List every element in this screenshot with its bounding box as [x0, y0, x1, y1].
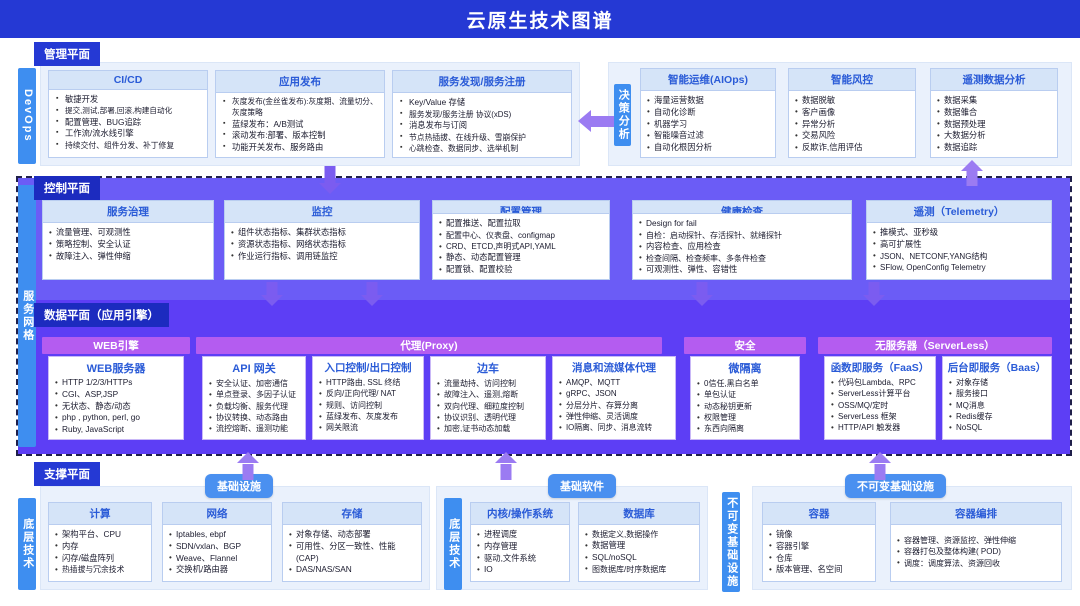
- card-api-gateway: API 网关 安全认证、加密通信 单点登录、多因子认证 负载均衡、服务代理 协议…: [202, 356, 306, 440]
- card-items: 灰度发布(金丝雀发布):灰度期、流量切分、灰度策略 蓝绿发布：A/B测试 滚动发…: [221, 97, 379, 154]
- card-database: 数据库 数据定义,数据操作 数据管理 SQL/noSQL 图数据库/时序数据库: [578, 502, 700, 582]
- card-config-management: 配置管理 配置推送、配置拉取 配置中心、仪表盘、configmap CRD、ET…: [432, 200, 610, 280]
- card-micro-segmentation: 微隔离 0信任,黑白名单 单包认证 动态秘钥更新 权限管理 东西向隔离: [690, 356, 800, 440]
- card-web-server: WEB服务器 HTTP 1/2/3/HTTPs CGI、ASP,JSP 无状态、…: [48, 356, 184, 440]
- card-items: 容器管理、资源监控、弹性伸缩 容器打包及整体构建( POD) 调度：调度算法、资…: [896, 535, 1056, 569]
- arrow-up-control-to-telemetry: [960, 160, 984, 186]
- card-aiops: 智能运维(AIOps) 海量运营数据 自动化诊断 机器学习 智能噪音过滤 自动化…: [640, 68, 776, 158]
- arrow-left-decision-to-management: [578, 110, 614, 132]
- card-service-governance: 服务治理 流量管理、可观测性 策略控制、安全认证 故障注入、弹性伸缩: [42, 200, 214, 280]
- card-items: 数据定义,数据操作 数据管理 SQL/noSQL 图数据库/时序数据库: [584, 529, 694, 575]
- rail-immutable-infra: 不可变基础设施: [722, 492, 740, 592]
- card-network: 网络 Iptables, ebpf SDN/vxlan、BGP Weave、Fl…: [162, 502, 272, 582]
- arrow-down-control-to-data-4: [862, 282, 886, 306]
- card-items: 安全认证、加密通信 单点登录、多因子认证 负载均衡、服务代理 协议转换、动态路由…: [208, 378, 300, 435]
- card-items: 配置推送、配置拉取 配置中心、仪表盘、configmap CRD、ETCD,声明…: [438, 218, 604, 276]
- card-container-orchestration: 容器编排 容器管理、资源监控、弹性伸缩 容器打包及整体构建( POD) 调度：调…: [890, 502, 1062, 582]
- card-telemetry: 遥测（Telemetry） 推模式、亚秒级 高可扩展性 JSON、NETCONF…: [866, 200, 1052, 280]
- rail-devops: DevOps: [18, 68, 36, 164]
- group-bar-web-engine: WEB引擎: [42, 337, 190, 354]
- card-items: Design for fail 自检：启动探针、存活探针、就绪探针 内容检查、应…: [638, 218, 846, 276]
- card-items: 镜像 容器引擎 仓库 版本管理、名空间: [768, 529, 870, 576]
- card-baas: 后台即服务（Baas） 对象存储 服务接口 MQ消息 Redis缓存 NoSQL: [942, 356, 1052, 440]
- pill-immutable-infrastructure: 不可变基础设施: [845, 474, 946, 498]
- rail-decision-analysis: 决策分析: [614, 84, 631, 146]
- card-items: 对象存储 服务接口 MQ消息 Redis缓存 NoSQL: [948, 377, 1046, 434]
- arrow-down-control-to-data-2: [360, 282, 384, 306]
- plane-label-data: 数据平面（应用引擎）: [34, 303, 169, 327]
- card-risk-control: 智能风控 数据脱敏 客户画像 异常分析 交易风险 反欺诈,信用评估: [788, 68, 916, 158]
- card-health-check: 健康检查 Design for fail 自检：启动探针、存活探针、就绪探针 内…: [632, 200, 852, 280]
- plane-label-control: 控制平面: [34, 176, 100, 200]
- card-items: AMQP、MQTT gRPC、JSON 分层分片、存算分离 弹性伸缩、灵活调度 …: [558, 377, 670, 434]
- card-items: 0信任,黑白名单 单包认证 动态秘钥更新 权限管理 东西向隔离: [696, 378, 794, 435]
- card-items: 进程调度 内存管理 驱动,文件系统 IO: [476, 529, 564, 576]
- arrow-down-control-to-data-3: [690, 282, 714, 306]
- card-storage: 存储 对象存储、动态部署 可用性、分区一致性、性能(CAP) DAS/NAS/S…: [282, 502, 422, 582]
- card-items: 推模式、亚秒级 高可扩展性 JSON、NETCONF,YANG结构 SFlow,…: [872, 227, 1046, 273]
- card-items: 流量劫持、访问控制 故障注入、遥测,熔断 双向代理、细粒度控制 协议识别、透明代…: [436, 378, 540, 435]
- card-app-release: 应用发布 灰度发布(金丝雀发布):灰度期、流量切分、灰度策略 蓝绿发布：A/B测…: [215, 70, 385, 158]
- card-items: 流量管理、可观测性 策略控制、安全认证 故障注入、弹性伸缩: [48, 227, 208, 262]
- arrow-down-control-to-data-1: [260, 282, 284, 306]
- plane-label-management: 管理平面: [34, 42, 100, 66]
- card-items: 对象存储、动态部署 可用性、分区一致性、性能(CAP) DAS/NAS/SAN: [288, 529, 416, 576]
- card-telemetry-analysis: 遥测数据分析 数据采集 数据雏合 数据预处理 大数据分析 数据追踪: [930, 68, 1058, 158]
- card-monitoring: 监控 组件状态指标、集群状态指标 资源状态指标、网络状态指标 作业运行指标、调用…: [224, 200, 420, 280]
- card-items: 海量运营数据 自动化诊断 机器学习 智能噪音过滤 自动化根因分析: [646, 95, 770, 154]
- page-title: 云原生技术图谱: [466, 6, 613, 33]
- card-items: 敏捷开发 提交,测试,部署,回滚,构建自动化 配置管理、BUG追踪 工作流/流水…: [54, 94, 202, 151]
- card-kernel-os: 内核/操作系统 进程调度 内存管理 驱动,文件系统 IO: [470, 502, 570, 582]
- card-items: 数据脱敏 客户画像 异常分析 交易风险 反欺诈,信用评估: [794, 95, 910, 154]
- card-compute: 计算 架构平台、CPU 内存 闪存/磁盘阵列 热插拔与冗余技术: [48, 502, 152, 582]
- card-ci-cd: CI/CD 敏捷开发 提交,测试,部署,回滚,构建自动化 配置管理、BUG追踪 …: [48, 70, 208, 158]
- card-sidecar: 边车 流量劫持、访问控制 故障注入、遥测,熔断 双向代理、细粒度控制 协议识别、…: [430, 356, 546, 440]
- card-items: 代码包Lambda、RPC ServerLess计算平台 OSS/MQ/定时 S…: [830, 377, 930, 434]
- arrow-up-infra-to-data: [236, 452, 260, 480]
- group-bar-serverless: 无服务器（ServerLess）: [818, 337, 1052, 354]
- card-message-stream-proxy: 消息和流媒体代理 AMQP、MQTT gRPC、JSON 分层分片、存算分离 弹…: [552, 356, 676, 440]
- arrow-down-management-to-control: [318, 166, 342, 194]
- card-faas: 函数即服务（FaaS） 代码包Lambda、RPC ServerLess计算平台…: [824, 356, 936, 440]
- card-service-discovery: 服务发现/服务注册 Key/Value 存储 服务发现/服务注册 协议(xDS)…: [392, 70, 572, 158]
- card-items: 架构平台、CPU 内存 闪存/磁盘阵列 热插拔与冗余技术: [54, 529, 146, 575]
- card-items: HTTP路由, SSL 终结 反向/正向代理/ NAT 规则、访问控制 蓝绿发布…: [318, 377, 418, 434]
- card-items: 数据采集 数据雏合 数据预处理 大数据分析 数据追踪: [936, 95, 1052, 154]
- card-container: 容器 镜像 容器引擎 仓库 版本管理、名空间: [762, 502, 876, 582]
- rail-underlying-tech-2: 底层技术: [444, 498, 462, 590]
- rail-underlying-tech-1: 底层技术: [18, 498, 36, 590]
- plane-label-support: 支撑平面: [34, 462, 100, 486]
- card-items: HTTP 1/2/3/HTTPs CGI、ASP,JSP 无状态、静态/动态 p…: [54, 377, 178, 436]
- card-items: Key/Value 存储 服务发现/服务注册 协议(xDS) 消息发布与订阅 节…: [398, 97, 566, 154]
- arrow-up-software-to-data: [494, 452, 518, 480]
- card-items: 组件状态指标、集群状态指标 资源状态指标、网络状态指标 作业运行指标、调用链监控: [230, 227, 414, 262]
- page-title-bar: 云原生技术图谱: [0, 0, 1080, 38]
- pill-base-software: 基础软件: [548, 474, 616, 498]
- group-bar-security: 安全: [684, 337, 806, 354]
- arrow-up-container-to-data: [868, 452, 892, 480]
- group-bar-proxy: 代理(Proxy): [196, 337, 662, 354]
- card-ingress-egress-control: 入口控制/出口控制 HTTP路由, SSL 终结 反向/正向代理/ NAT 规则…: [312, 356, 424, 440]
- card-items: Iptables, ebpf SDN/vxlan、BGP Weave、Flann…: [168, 529, 266, 576]
